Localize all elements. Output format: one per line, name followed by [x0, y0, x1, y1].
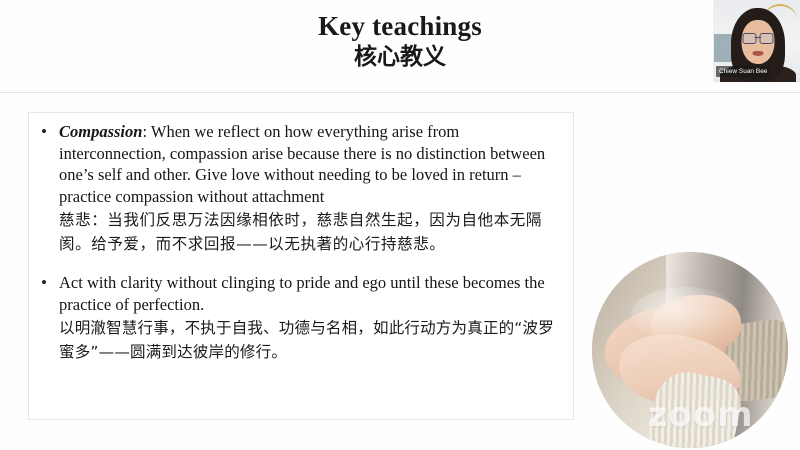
- speaker-mouth: [752, 51, 763, 56]
- title-divider: [0, 92, 800, 93]
- zoom-watermark: zoom: [648, 398, 754, 432]
- participant-name-badge: Chiew Suan Bee: [716, 66, 770, 77]
- bullet-english-text: Act with clarity without clinging to pri…: [59, 272, 563, 315]
- slide-title-block: Key teachings 核心教义: [0, 12, 800, 72]
- participant-video-tile[interactable]: Chiew Suan Bee: [713, 0, 800, 82]
- bullet-chinese-text: 慈悲：当我们反思万法因缘相依时，慈悲自然生起，因为自他本无隔阂。给予爱，而不求回…: [59, 208, 563, 256]
- clasped-hands-photo: zoom: [592, 252, 788, 448]
- bullet-item-compassion: • Compassion: When we reflect on how eve…: [37, 121, 563, 256]
- bullet-chinese-text: 以明澈智慧行事，不执于自我、功德与名相，如此行动方为真正的“波罗蜜多”——圆满到…: [59, 316, 563, 364]
- photo-highlight: [631, 287, 739, 342]
- bullet-marker-icon: •: [37, 121, 59, 142]
- page-title: Key teachings: [0, 12, 800, 40]
- glasses-icon: [742, 33, 773, 42]
- glasses-right-lens: [759, 33, 773, 44]
- bullet-body: Act with clarity without clinging to pri…: [59, 272, 563, 364]
- bullet-english-body: Act with clarity without clinging to pri…: [59, 273, 545, 314]
- glasses-left-lens: [742, 33, 756, 44]
- bullet-marker-icon: •: [37, 272, 59, 293]
- bullet-body: Compassion: When we reflect on how every…: [59, 121, 563, 256]
- presentation-slide: Key teachings 核心教义 • Compassion: When we…: [0, 0, 800, 450]
- bullet-english-text: Compassion: When we reflect on how every…: [59, 121, 563, 207]
- content-text-box: • Compassion: When we reflect on how eve…: [28, 112, 574, 420]
- bullet-item-clarity: • Act with clarity without clinging to p…: [37, 272, 563, 364]
- page-title-chinese: 核心教义: [0, 43, 800, 72]
- bullet-lead-label: Compassion: [59, 122, 142, 141]
